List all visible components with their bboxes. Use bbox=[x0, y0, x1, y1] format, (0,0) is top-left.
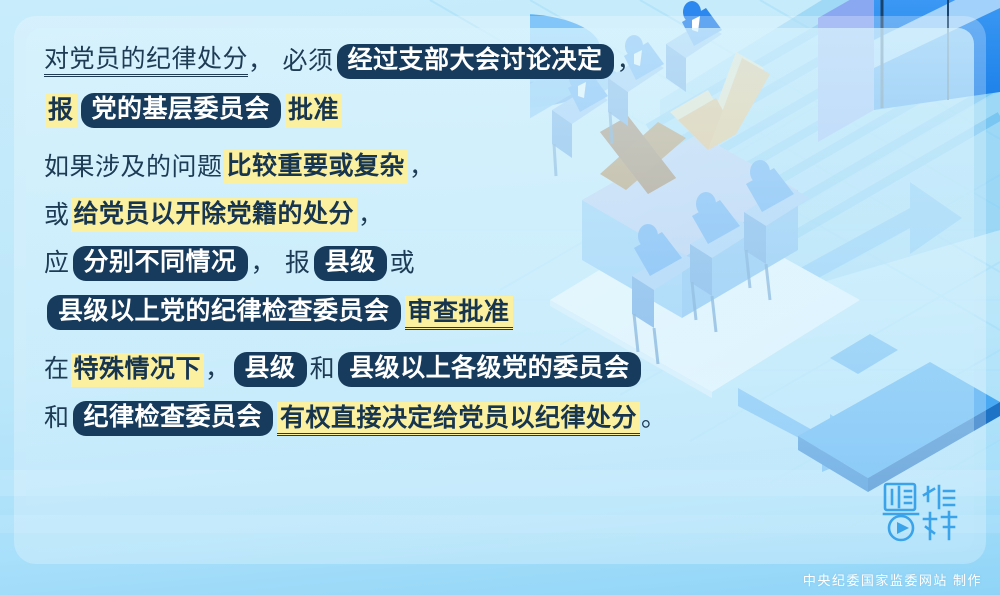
line-3-1: 在特殊情况下，县级和县级以上各级党的委员会 bbox=[44, 352, 684, 387]
token-highlight: 报 bbox=[45, 94, 77, 128]
token-highlight: 给党员以开除党籍的处分 bbox=[71, 198, 358, 232]
line-2-3: 应分别不同情况，报县级或 bbox=[44, 246, 684, 281]
policy-text-block: 对党员的纪律处分，必须经过支部大会讨论决定， 报党的基层委员会批准 如果涉及的问… bbox=[44, 44, 684, 436]
token-text: 应 bbox=[44, 251, 70, 276]
token-highlight: 批准 bbox=[285, 94, 342, 128]
token-text: 必须 bbox=[283, 49, 334, 74]
token-text: 或 bbox=[44, 203, 70, 228]
token-pill: 县级以上各级党的委员会 bbox=[338, 352, 641, 387]
line-1-1: 对党员的纪律处分，必须经过支部大会讨论决定， bbox=[44, 44, 684, 79]
token-highlight: 审查批准 bbox=[405, 296, 513, 330]
token-pill: 县级以上党的纪律检查委员会 bbox=[47, 295, 401, 330]
token-text: ， bbox=[358, 203, 384, 228]
paragraph-2: 如果涉及的问题比较重要或复杂， 或给党员以开除党籍的处分， 应分别不同情况，报县… bbox=[44, 150, 684, 330]
token-text: ， bbox=[617, 49, 643, 74]
token-pill: 县级 bbox=[314, 246, 387, 281]
token-text: 或 bbox=[390, 251, 416, 276]
line-2-4: 县级以上党的纪律检查委员会审查批准 bbox=[44, 295, 684, 330]
token-highlight: 有权直接决定给党员以纪律处分 bbox=[277, 402, 640, 436]
token-text: 如果涉及的问题 bbox=[44, 155, 223, 180]
line-3-2: 和纪律检查委员会有权直接决定给党员以纪律处分。 bbox=[44, 401, 684, 436]
token-highlight: 比较重要或复杂 bbox=[224, 150, 409, 184]
token-text: ， bbox=[205, 357, 231, 382]
token-text: 在 bbox=[44, 357, 70, 382]
token-text: 和 bbox=[44, 406, 70, 431]
poster-stage: 对党员的纪律处分，必须经过支部大会讨论决定， 报党的基层委员会批准 如果涉及的问… bbox=[0, 0, 1000, 595]
jifa-baike-logo bbox=[882, 481, 978, 543]
token-pill: 县级 bbox=[234, 352, 307, 387]
token-pill: 纪律检查委员会 bbox=[73, 401, 274, 436]
paragraph-1: 对党员的纪律处分，必须经过支部大会讨论决定， 报党的基层委员会批准 bbox=[44, 44, 684, 128]
token-text: 和 bbox=[310, 357, 336, 382]
paragraph-3: 在特殊情况下，县级和县级以上各级党的委员会 和纪律检查委员会有权直接决定给党员以… bbox=[44, 352, 684, 436]
token-pill: 经过支部大会讨论决定 bbox=[337, 44, 614, 79]
token-text: 报 bbox=[285, 251, 311, 276]
token-text: 。 bbox=[641, 406, 667, 431]
token-pill: 分别不同情况 bbox=[73, 246, 248, 281]
token-text: ， bbox=[248, 49, 274, 74]
footer-credit: 中央纪委国家监委网站 制作 bbox=[803, 570, 982, 589]
line-2-1: 如果涉及的问题比较重要或复杂， bbox=[44, 150, 684, 184]
token-text: ， bbox=[251, 251, 277, 276]
token-text: 对党员的纪律处分 bbox=[44, 47, 248, 77]
line-2-2: 或给党员以开除党籍的处分， bbox=[44, 198, 684, 232]
token-text: ， bbox=[409, 155, 435, 180]
token-pill: 党的基层委员会 bbox=[81, 93, 282, 128]
token-highlight: 特殊情况下 bbox=[71, 353, 205, 387]
line-1-2: 报党的基层委员会批准 bbox=[44, 93, 684, 128]
